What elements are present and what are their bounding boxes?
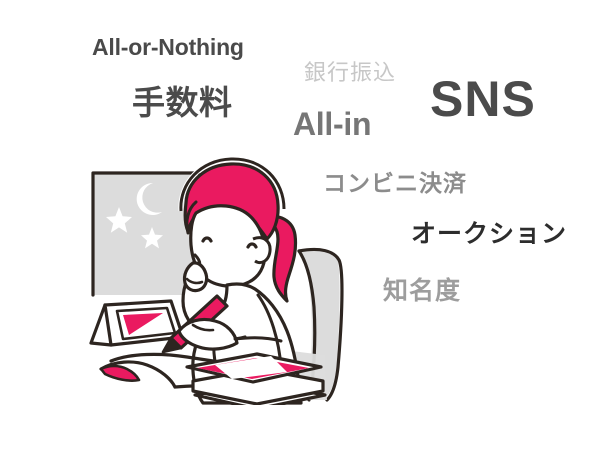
keyword-ginko-furikomi: 銀行振込 (304, 62, 396, 84)
keyword-all-in: All-in (293, 108, 371, 140)
keyword-all-or-nothing: All-or-Nothing (92, 36, 244, 59)
notebook-pink-edge (101, 366, 139, 381)
keyword-konbini-kessai: コンビニ決済 (323, 172, 467, 195)
hand (184, 263, 206, 291)
keyword-chimeido: 知名度 (383, 279, 461, 304)
crowdfunding-keyword-illustration: All-or-Nothing 銀行振込 手数料 SNS All-in コンビニ決… (0, 0, 600, 471)
tablet-group (91, 301, 183, 345)
ear (253, 238, 270, 263)
keyword-sns: SNS (430, 74, 536, 124)
keyword-tesuryo: 手数料 (132, 86, 233, 119)
keyword-auction: オークション (411, 222, 567, 247)
